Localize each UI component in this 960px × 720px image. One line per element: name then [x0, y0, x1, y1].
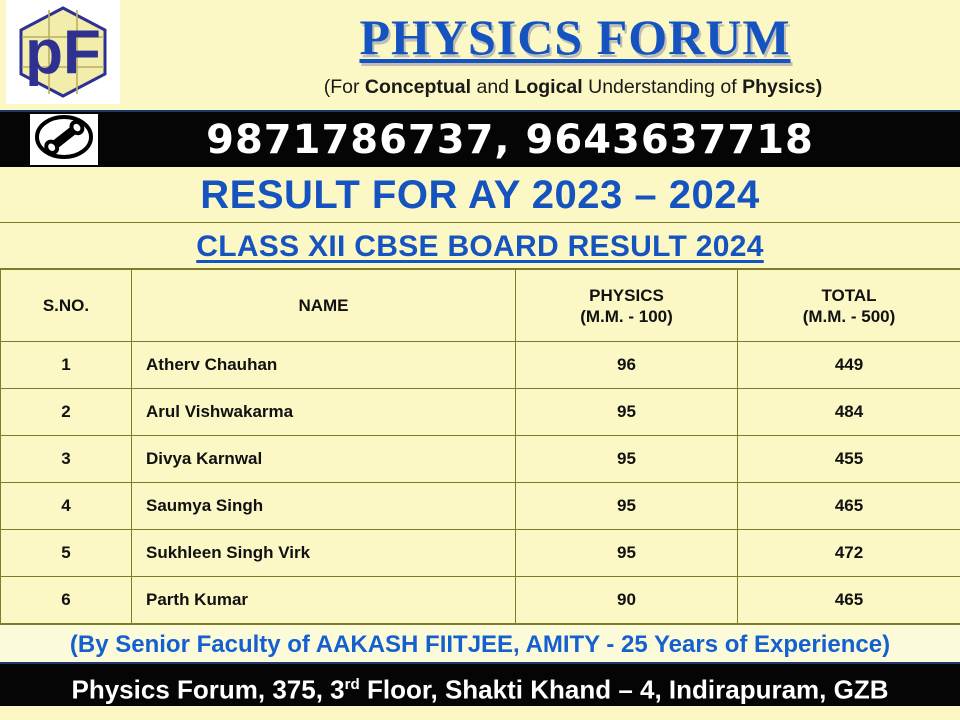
column-header-name: NAME	[132, 270, 516, 342]
table-header-row: S.NO. NAME PHYSICS (M.M. - 100) TOTAL (M…	[1, 270, 960, 342]
table-row: 3Divya Karnwal95455	[1, 436, 960, 483]
phone-numbers: 9871786737, 9643637718	[0, 117, 960, 163]
table-row: 4Saumya Singh95465	[1, 483, 960, 530]
cell-physics: 95	[516, 530, 738, 577]
table-row: 6Parth Kumar90465	[1, 577, 960, 624]
cell-physics: 95	[516, 389, 738, 436]
logo-container: pF	[6, 0, 120, 104]
column-header-physics-line1: PHYSICS	[517, 285, 736, 306]
svg-text:pF: pF	[25, 18, 101, 87]
cell-sno: 6	[1, 577, 132, 624]
cell-total: 465	[738, 577, 960, 624]
header: pF PHYSICS FORUM (For Conceptual and Log…	[0, 0, 960, 112]
cell-physics: 90	[516, 577, 738, 624]
table-row: 1Atherv Chauhan96449	[1, 342, 960, 389]
subtitle: (For Conceptual and Logical Understandin…	[200, 76, 946, 99]
cell-name: Sukhleen Singh Virk	[132, 530, 516, 577]
result-table: S.NO. NAME PHYSICS (M.M. - 100) TOTAL (M…	[0, 269, 960, 624]
cell-total: 449	[738, 342, 960, 389]
page-title: PHYSICS FORUM	[200, 8, 950, 66]
address-part-2: Floor, Shakti Khand – 4, Indirapuram, GZ…	[360, 675, 889, 705]
subtitle-bold-physics: Physics)	[742, 76, 822, 98]
cell-total: 455	[738, 436, 960, 483]
academic-year-band: RESULT FOR AY 2023 – 2024	[0, 167, 960, 223]
cell-name: Arul Vishwakarma	[132, 389, 516, 436]
cell-physics: 95	[516, 436, 738, 483]
subtitle-part-2: and	[471, 76, 514, 98]
address-bar: Physics Forum, 375, 3rd Floor, Shakti Kh…	[0, 664, 960, 706]
column-header-physics-line2: (M.M. - 100)	[517, 306, 736, 327]
cell-sno: 4	[1, 483, 132, 530]
table-row: 2Arul Vishwakarma95484	[1, 389, 960, 436]
cell-sno: 1	[1, 342, 132, 389]
telephone-handset-icon	[34, 115, 94, 164]
class-result-text: CLASS XII CBSE BOARD RESULT 2024	[196, 230, 764, 263]
cell-sno: 3	[1, 436, 132, 483]
cell-total: 472	[738, 530, 960, 577]
column-header-total-line2: (M.M. - 500)	[739, 306, 959, 327]
class-result-band: CLASS XII CBSE BOARD RESULT 2024	[0, 223, 960, 269]
subtitle-bold-logical: Logical	[514, 76, 582, 98]
table-row: 5Sukhleen Singh Virk95472	[1, 530, 960, 577]
cell-total: 465	[738, 483, 960, 530]
phone-bar: 9871786737, 9643637718	[0, 112, 960, 167]
cell-sno: 5	[1, 530, 132, 577]
physics-forum-hexagon-logo: pF	[13, 5, 113, 99]
faculty-note: (By Senior Faculty of AAKASH FIITJEE, AM…	[0, 624, 960, 664]
subtitle-part-3: Understanding of	[583, 76, 742, 98]
address-part-1: Physics Forum, 375, 3	[72, 675, 345, 705]
cell-total: 484	[738, 389, 960, 436]
address-ordinal-suffix: rd	[345, 676, 360, 693]
cell-name: Parth Kumar	[132, 577, 516, 624]
subtitle-bold-conceptual: Conceptual	[365, 76, 471, 98]
cell-name: Divya Karnwal	[132, 436, 516, 483]
cell-physics: 96	[516, 342, 738, 389]
subtitle-part-1: (For	[324, 76, 365, 98]
cell-physics: 95	[516, 483, 738, 530]
cell-sno: 2	[1, 389, 132, 436]
cell-name: Saumya Singh	[132, 483, 516, 530]
cell-name: Atherv Chauhan	[132, 342, 516, 389]
column-header-sno: S.NO.	[1, 270, 132, 342]
column-header-physics: PHYSICS (M.M. - 100)	[516, 270, 738, 342]
result-poster: pF PHYSICS FORUM (For Conceptual and Log…	[0, 0, 960, 720]
column-header-total: TOTAL (M.M. - 500)	[738, 270, 960, 342]
phone-icon-container	[30, 114, 98, 165]
column-header-total-line1: TOTAL	[739, 285, 959, 306]
table-body: 1Atherv Chauhan964492Arul Vishwakarma954…	[1, 342, 960, 624]
